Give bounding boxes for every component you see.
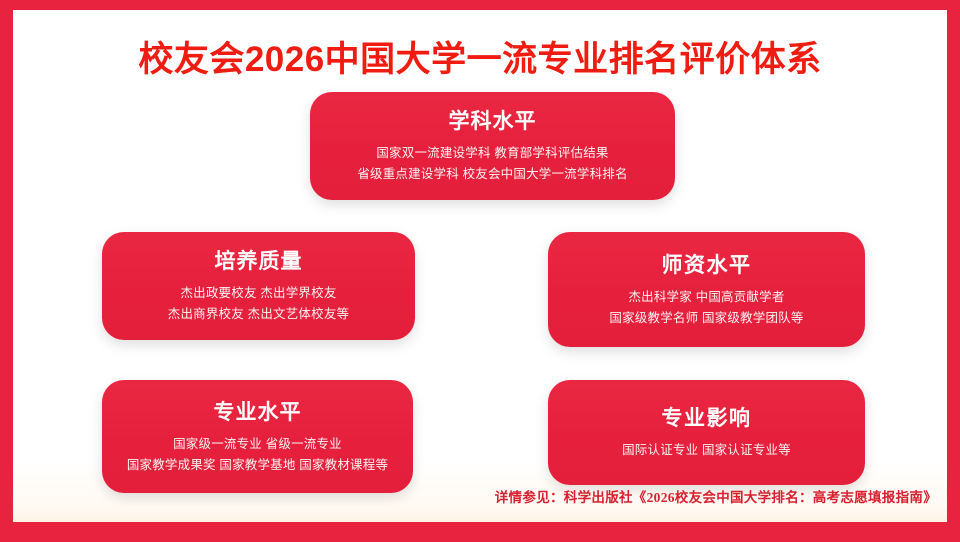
page-title: 校友会2026中国大学一流专业排名评价体系 [13,38,947,82]
card-line: 国家级教学名师 国家级教学团队等 [609,308,803,329]
card-line: 国家教学成果奖 国家教学基地 国家教材课程等 [127,455,388,476]
card-title: 专业水平 [214,398,302,428]
card-body: 国际认证专业 国家认证专业等 [622,440,791,461]
poster-canvas: 校友会2026中国大学一流专业排名评价体系 学科水平 国家双一流建设学科 教育部… [13,10,947,522]
card-title: 专业影响 [662,404,752,434]
card-line: 杰出商界校友 杰出文艺体校友等 [168,304,349,325]
card-body: 国家级一流专业 省级一流专业 国家教学成果奖 国家教学基地 国家教材课程等 [127,434,388,476]
card-line: 国际认证专业 国家认证专业等 [622,440,791,461]
card-line: 省级重点建设学科 校友会中国大学一流学科排名 [357,164,627,185]
card-body: 杰出科学家 中国高贡献学者 国家级教学名师 国家级教学团队等 [609,287,803,329]
card-title: 学科水平 [449,107,537,137]
card-line: 国家级一流专业 省级一流专业 [127,434,388,455]
criteria-card-major-influence: 专业影响 国际认证专业 国家认证专业等 [548,380,865,485]
card-body: 杰出政要校友 杰出学界校友 杰出商界校友 杰出文艺体校友等 [168,283,349,325]
criteria-card-discipline-level: 学科水平 国家双一流建设学科 教育部学科评估结果 省级重点建设学科 校友会中国大… [310,92,675,200]
card-title: 师资水平 [662,251,752,281]
card-title: 培养质量 [215,247,303,277]
card-line: 杰出政要校友 杰出学界校友 [168,283,349,304]
criteria-card-training-quality: 培养质量 杰出政要校友 杰出学界校友 杰出商界校友 杰出文艺体校友等 [102,232,415,340]
criteria-card-faculty-level: 师资水平 杰出科学家 中国高贡献学者 国家级教学名师 国家级教学团队等 [548,232,865,347]
source-note: 详情参见：科学出版社《2026校友会中国大学排名：高考志愿填报指南》 [495,488,937,508]
card-line: 国家双一流建设学科 教育部学科评估结果 [357,143,627,164]
card-line: 杰出科学家 中国高贡献学者 [609,287,803,308]
poster-frame: 校友会2026中国大学一流专业排名评价体系 学科水平 国家双一流建设学科 教育部… [0,0,960,542]
criteria-card-major-level: 专业水平 国家级一流专业 省级一流专业 国家教学成果奖 国家教学基地 国家教材课… [102,380,413,493]
card-body: 国家双一流建设学科 教育部学科评估结果 省级重点建设学科 校友会中国大学一流学科… [357,143,627,185]
